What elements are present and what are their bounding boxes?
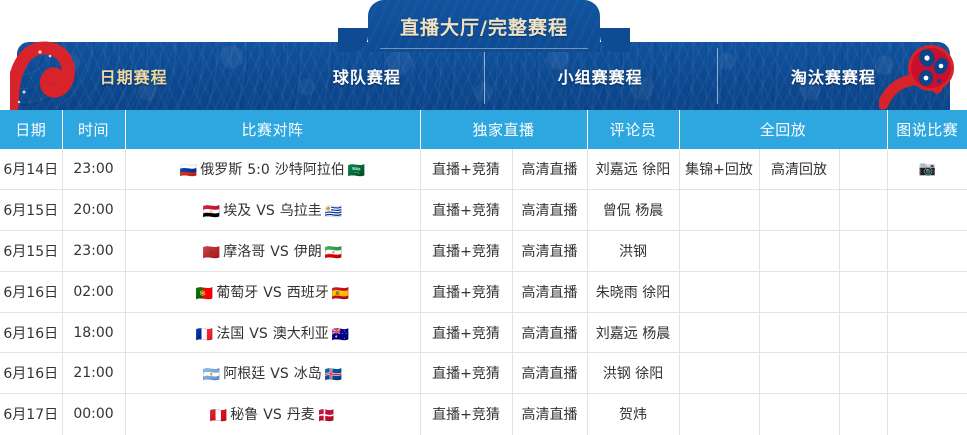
home-flag-icon: 🇷🇺: [180, 163, 197, 179]
cell-commentators: 洪钢: [587, 231, 679, 272]
cell-live-guess[interactable]: 直播+竞猜: [420, 312, 512, 353]
match-separator: VS: [270, 366, 288, 382]
cell-highlights-replay[interactable]: [679, 271, 759, 312]
cell-highlights-replay[interactable]: [679, 231, 759, 272]
home-team: 埃及: [223, 203, 251, 219]
tab-group-stage-schedule-label: 小组赛赛程: [558, 64, 643, 88]
table-row: 6月14日 23:00 🇷🇺俄罗斯5:0沙特阿拉伯🇸🇦 直播+竞猜 高清直播 刘…: [0, 149, 967, 190]
cell-date: 6月15日: [0, 231, 62, 272]
cell-time: 20:00: [62, 190, 125, 231]
col-header-picture-story[interactable]: 图说比赛: [887, 110, 967, 149]
cell-replay-extra[interactable]: [839, 353, 887, 394]
cell-match[interactable]: 🇵🇪秘鲁VS丹麦🇩🇰: [125, 394, 420, 435]
away-flag-icon: 🇮🇷: [325, 245, 342, 261]
match-separator: VS: [270, 244, 288, 260]
cell-hd-replay[interactable]: [759, 312, 839, 353]
cell-highlights-replay[interactable]: 集锦+回放: [679, 149, 759, 190]
tab-team-schedule[interactable]: 球队赛程: [250, 42, 483, 110]
cell-time: 18:00: [62, 312, 125, 353]
cell-time: 21:00: [62, 353, 125, 394]
cell-picture-story[interactable]: [887, 190, 967, 231]
cell-match[interactable]: 🇪🇬埃及VS乌拉圭🇺🇾: [125, 190, 420, 231]
col-header-time[interactable]: 时间: [62, 110, 125, 149]
table-row: 6月16日 18:00 🇫🇷法国VS澳大利亚🇦🇺 直播+竞猜 高清直播 刘嘉远 …: [0, 312, 967, 353]
cell-time: 23:00: [62, 149, 125, 190]
home-team: 葡萄牙: [216, 285, 258, 301]
away-team: 伊朗: [294, 244, 322, 260]
table-row: 6月15日 20:00 🇪🇬埃及VS乌拉圭🇺🇾 直播+竞猜 高清直播 曾侃 杨晨: [0, 190, 967, 231]
tab-date-schedule[interactable]: 日期赛程: [17, 42, 250, 110]
schedule-table-body: 6月14日 23:00 🇷🇺俄罗斯5:0沙特阿拉伯🇸🇦 直播+竞猜 高清直播 刘…: [0, 149, 967, 435]
cell-hd-replay[interactable]: [759, 353, 839, 394]
cell-hd-replay[interactable]: [759, 190, 839, 231]
home-flag-icon: 🇦🇷: [203, 367, 220, 383]
col-header-match[interactable]: 比赛对阵: [125, 110, 420, 149]
cell-live-guess[interactable]: 直播+竞猜: [420, 353, 512, 394]
cell-time: 23:00: [62, 231, 125, 272]
col-header-full-replay[interactable]: 全回放: [679, 110, 887, 149]
page-banner: 直播大厅/完整赛程 日期赛程 球队赛程 小组赛赛程 淘汰赛赛程: [0, 0, 967, 110]
cell-picture-story[interactable]: [887, 312, 967, 353]
cell-picture-story[interactable]: [887, 271, 967, 312]
cell-time: 00:00: [62, 394, 125, 435]
col-header-commentator[interactable]: 评论员: [587, 110, 679, 149]
cell-live-guess[interactable]: 直播+竞猜: [420, 394, 512, 435]
cell-hd-live[interactable]: 高清直播: [512, 190, 587, 231]
cell-replay-extra[interactable]: [839, 231, 887, 272]
cell-replay-extra[interactable]: [839, 271, 887, 312]
away-flag-icon: 🇺🇾: [325, 204, 342, 220]
cell-date: 6月15日: [0, 190, 62, 231]
cell-live-guess[interactable]: 直播+竞猜: [420, 149, 512, 190]
match-separator: VS: [263, 285, 281, 301]
cell-hd-replay[interactable]: 高清回放: [759, 149, 839, 190]
home-flag-icon: 🇲🇦: [203, 245, 220, 261]
cell-picture-story[interactable]: [887, 353, 967, 394]
away-team: 澳大利亚: [273, 326, 329, 342]
cell-date: 6月14日: [0, 149, 62, 190]
col-header-date[interactable]: 日期: [0, 110, 62, 149]
cell-live-guess[interactable]: 直播+竞猜: [420, 271, 512, 312]
cell-date: 6月16日: [0, 271, 62, 312]
cell-hd-replay[interactable]: [759, 394, 839, 435]
cell-commentators: 洪钢 徐阳: [587, 353, 679, 394]
cell-hd-live[interactable]: 高清直播: [512, 149, 587, 190]
cell-time: 02:00: [62, 271, 125, 312]
page-title-plaque: 直播大厅/完整赛程: [368, 0, 600, 52]
cell-replay-extra[interactable]: [839, 312, 887, 353]
table-header-row: 日期 时间 比赛对阵 独家直播 评论员 全回放 图说比赛: [0, 110, 967, 149]
home-flag-icon: 🇫🇷: [196, 327, 213, 343]
cell-date: 6月16日: [0, 353, 62, 394]
schedule-table: 日期 时间 比赛对阵 独家直播 评论员 全回放 图说比赛 6月14日 23:00…: [0, 110, 967, 435]
away-flag-icon: 🇪🇸: [332, 286, 349, 302]
cell-highlights-replay[interactable]: [679, 312, 759, 353]
away-team: 西班牙: [287, 285, 329, 301]
cell-commentators: 朱晓雨 徐阳: [587, 271, 679, 312]
cell-picture-story[interactable]: [887, 394, 967, 435]
cell-picture-story[interactable]: 📷: [887, 149, 967, 190]
cell-hd-live[interactable]: 高清直播: [512, 312, 587, 353]
cell-match[interactable]: 🇦🇷阿根廷VS冰岛🇮🇸: [125, 353, 420, 394]
match-separator: VS: [263, 407, 281, 423]
home-flag-icon: 🇵🇹: [196, 286, 213, 302]
cell-commentators: 曾侃 杨晨: [587, 190, 679, 231]
cell-hd-live[interactable]: 高清直播: [512, 231, 587, 272]
cell-hd-replay[interactable]: [759, 271, 839, 312]
home-team: 摩洛哥: [223, 244, 265, 260]
table-row: 6月15日 23:00 🇲🇦摩洛哥VS伊朗🇮🇷 直播+竞猜 高清直播 洪钢: [0, 231, 967, 272]
cell-date: 6月17日: [0, 394, 62, 435]
match-separator: VS: [249, 326, 267, 342]
tab-knockout-schedule[interactable]: 淘汰赛赛程: [717, 42, 950, 110]
away-flag-icon: 🇦🇺: [332, 327, 349, 343]
cell-live-guess[interactable]: 直播+竞猜: [420, 231, 512, 272]
away-flag-icon: 🇸🇦: [348, 163, 365, 179]
away-team: 丹麦: [287, 407, 315, 423]
tab-knockout-schedule-label: 淘汰赛赛程: [791, 64, 876, 88]
schedule-table-container: 日期 时间 比赛对阵 独家直播 评论员 全回放 图说比赛 6月14日 23:00…: [0, 110, 967, 435]
away-flag-icon: 🇩🇰: [318, 408, 335, 424]
table-row: 6月17日 00:00 🇵🇪秘鲁VS丹麦🇩🇰 直播+竞猜 高清直播 贺炜: [0, 394, 967, 435]
home-flag-icon: 🇪🇬: [203, 204, 220, 220]
cell-replay-extra[interactable]: [839, 190, 887, 231]
cell-replay-extra[interactable]: [839, 394, 887, 435]
cell-hd-live[interactable]: 高清直播: [512, 353, 587, 394]
cell-hd-live[interactable]: 高清直播: [512, 394, 587, 435]
table-row: 6月16日 21:00 🇦🇷阿根廷VS冰岛🇮🇸 直播+竞猜 高清直播 洪钢 徐阳: [0, 353, 967, 394]
col-header-exclusive-live[interactable]: 独家直播: [420, 110, 587, 149]
away-team: 沙特阿拉伯: [275, 162, 345, 178]
cell-commentators: 贺炜: [587, 394, 679, 435]
match-score: 5:0: [247, 162, 270, 178]
cell-picture-story[interactable]: [887, 231, 967, 272]
cell-date: 6月16日: [0, 312, 62, 353]
cell-match[interactable]: 🇵🇹葡萄牙VS西班牙🇪🇸: [125, 271, 420, 312]
cell-match[interactable]: 🇫🇷法国VS澳大利亚🇦🇺: [125, 312, 420, 353]
cell-highlights-replay[interactable]: [679, 353, 759, 394]
away-team: 乌拉圭: [280, 203, 322, 219]
home-team: 俄罗斯: [200, 162, 242, 178]
home-team: 阿根廷: [223, 366, 265, 382]
home-team: 法国: [216, 326, 244, 342]
cell-hd-replay[interactable]: [759, 231, 839, 272]
tab-team-schedule-label: 球队赛程: [333, 64, 401, 88]
page-title: 直播大厅/完整赛程: [400, 13, 568, 40]
cell-replay-extra[interactable]: [839, 149, 887, 190]
cell-hd-live[interactable]: 高清直播: [512, 271, 587, 312]
cell-match[interactable]: 🇷🇺俄罗斯5:0沙特阿拉伯🇸🇦: [125, 149, 420, 190]
cell-live-guess[interactable]: 直播+竞猜: [420, 190, 512, 231]
banner-nav-tabs: 日期赛程 球队赛程 小组赛赛程 淘汰赛赛程: [17, 42, 950, 110]
cell-highlights-replay[interactable]: [679, 190, 759, 231]
away-flag-icon: 🇮🇸: [325, 367, 342, 383]
away-team: 冰岛: [294, 366, 322, 382]
home-team: 秘鲁: [230, 407, 258, 423]
match-separator: VS: [256, 203, 274, 219]
cell-highlights-replay[interactable]: [679, 394, 759, 435]
tab-group-stage-schedule[interactable]: 小组赛赛程: [484, 42, 717, 110]
cell-match[interactable]: 🇲🇦摩洛哥VS伊朗🇮🇷: [125, 231, 420, 272]
cell-commentators: 刘嘉远 徐阳: [587, 149, 679, 190]
title-underline: [380, 48, 588, 49]
home-flag-icon: 🇵🇪: [210, 408, 227, 424]
table-row: 6月16日 02:00 🇵🇹葡萄牙VS西班牙🇪🇸 直播+竞猜 高清直播 朱晓雨 …: [0, 271, 967, 312]
tab-date-schedule-label: 日期赛程: [100, 64, 168, 88]
cell-commentators: 刘嘉远 杨晨: [587, 312, 679, 353]
